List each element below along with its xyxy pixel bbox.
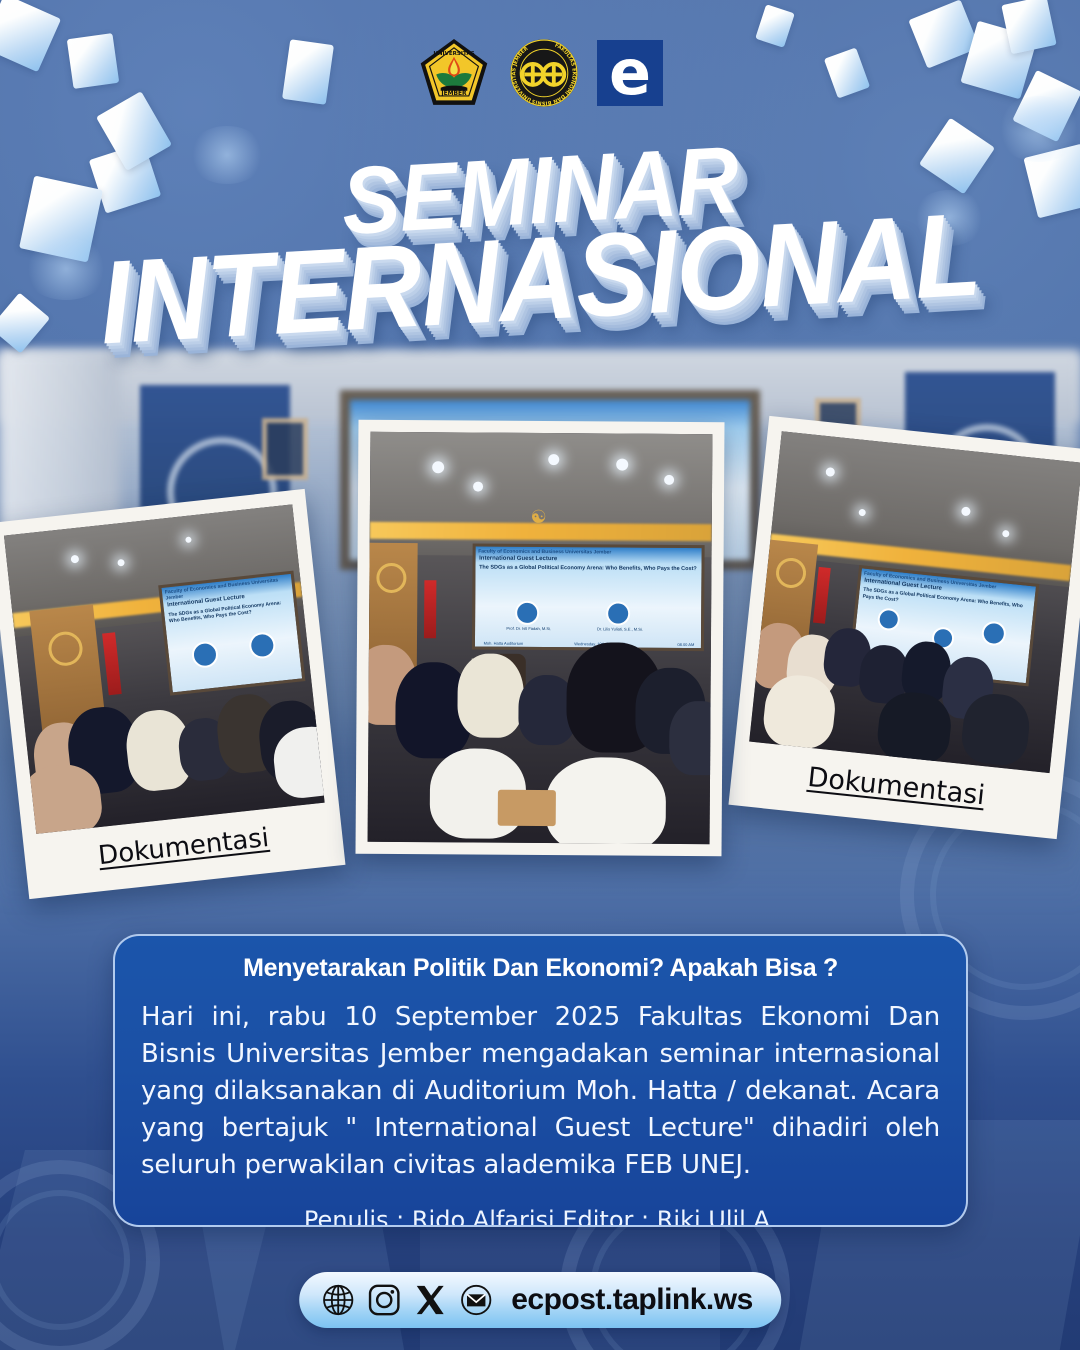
- photo-left[interactable]: Faculty of Economics and Business Univer…: [0, 489, 345, 899]
- social-footer[interactable]: ecpost.taplink.ws: [299, 1272, 781, 1328]
- card-credit: Penulis : Rido Alfarisi Editor : Riki Ul…: [141, 1206, 940, 1227]
- photo-center-screen-subtitle: The SDGs as a Global Political Economy A…: [475, 564, 702, 574]
- description-card: Menyetarakan Politik Dan Ekonomi? Apakah…: [113, 934, 968, 1227]
- svg-text:JEMBER: JEMBER: [440, 91, 467, 97]
- photo-center-speaker-1: Prof. Dr. Isti Fadah, M.Si.: [506, 626, 551, 631]
- photo-left-image: Faculty of Economics and Business Univer…: [4, 504, 325, 834]
- background-portrait-frame-left: [262, 418, 308, 480]
- photo-center[interactable]: ☯ Faculty of Economics and Business Univ…: [355, 420, 724, 857]
- ecpost-e-logo: e: [597, 40, 663, 106]
- e-glyph: e: [609, 47, 651, 99]
- card-heading: Menyetarakan Politik Dan Ekonomi? Apakah…: [141, 954, 940, 983]
- poster-canvas: UNIVERSITAS JEMBER FAKULTAS EKONOMI DAN …: [0, 0, 1080, 1350]
- envelope-icon[interactable]: [459, 1283, 493, 1317]
- x-twitter-icon[interactable]: [413, 1283, 447, 1317]
- card-body: Hari ini, rabu 10 September 2025 Fakulta…: [141, 999, 940, 1184]
- page-title: SEMINAR INTERNASIONAL: [0, 150, 1080, 331]
- photo-center-speaker-2: Dr. Lilis Yuliati, S.E., M.Si.: [597, 627, 643, 632]
- footer-url[interactable]: ecpost.taplink.ws: [511, 1283, 753, 1317]
- photo-right-image: Faculty of Economics and Business Univer…: [749, 431, 1080, 773]
- svg-text:UNIVERSITAS: UNIVERSITAS: [433, 51, 474, 57]
- photo-center-image: ☯ Faculty of Economics and Business Univ…: [368, 432, 713, 844]
- feb-logo: FAKULTAS EKONOMI DAN BISNIS UNIVERSITAS …: [509, 38, 579, 108]
- photo-center-screen-header: Faculty of Economics and Business Univer…: [475, 546, 702, 556]
- globe-icon[interactable]: [321, 1283, 355, 1317]
- instagram-icon[interactable]: [367, 1283, 401, 1317]
- logo-row: UNIVERSITAS JEMBER FAKULTAS EKONOMI DAN …: [0, 36, 1080, 110]
- photo-right[interactable]: Faculty of Economics and Business Univer…: [728, 416, 1080, 839]
- universitas-jember-logo: UNIVERSITAS JEMBER: [417, 36, 491, 110]
